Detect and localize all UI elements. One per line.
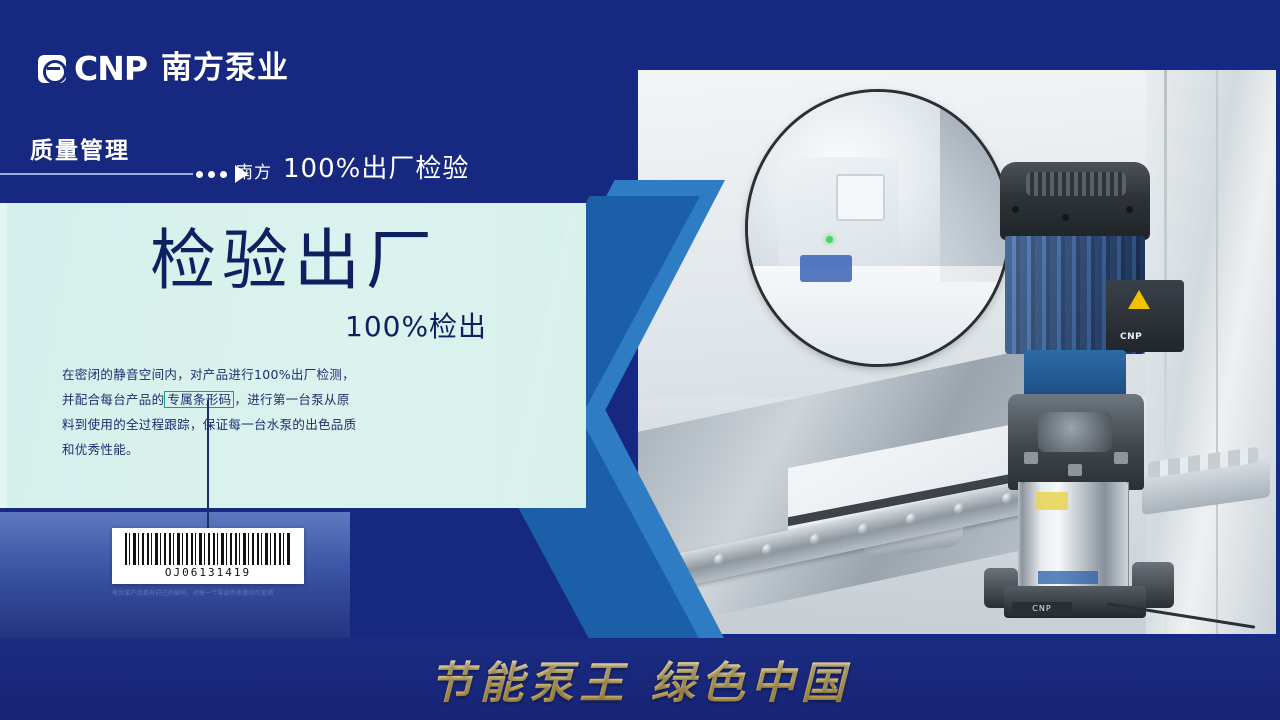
body-paragraph: 在密闭的静音空间内，对产品进行100%出厂检测，并配合每台产品的专属条形码，进行… — [62, 362, 362, 462]
logo-chinese-text: 南方泵业 — [161, 53, 289, 84]
footer-slogan-text: 节能泵王 绿色中国 — [429, 647, 850, 711]
base-nameplate: CNP — [1012, 602, 1072, 616]
photo-frame: CNP CNP — [634, 66, 1280, 638]
vertical-multistage-pump: CNP CNP — [956, 162, 1188, 614]
stainless-pump-chamber — [1022, 482, 1128, 594]
content-panel-edge — [0, 203, 7, 508]
cnp-emblem-icon — [38, 55, 66, 83]
pump-brand-label: CNP — [1120, 332, 1142, 342]
brand-logo[interactable]: CNP 南方泵业 — [38, 52, 289, 85]
marker-dot — [220, 171, 227, 178]
chamber-blue-label — [1038, 571, 1098, 584]
mirror-cart-reflection — [800, 255, 852, 282]
terminal-box: CNP — [1106, 280, 1184, 352]
barcode-number: OJ06131419 — [165, 566, 251, 579]
highlighted-term: 专属条形码 — [164, 391, 234, 408]
factory-photo: CNP CNP — [638, 70, 1276, 634]
pump-coupling-bracket — [1008, 394, 1144, 490]
motor-fan-cover — [1000, 162, 1150, 240]
page-subtitle: 100%检出 — [345, 305, 487, 345]
page-title: 检验出厂 — [150, 228, 438, 294]
header-headline: 100%出厂检验 — [283, 148, 469, 185]
callout-connector-line — [207, 400, 209, 528]
barcode-card: OJ06131419 — [112, 528, 304, 584]
section-title: 质量管理 — [30, 131, 130, 165]
marker-dot — [208, 171, 215, 178]
header-rule — [0, 173, 193, 175]
slide-root: CNP CNP — [0, 0, 1280, 720]
barcode-caption: 每台泵产品都有自己的编码，对每一个零部件质量均可追溯 — [112, 588, 312, 597]
warning-sticker — [1036, 492, 1068, 510]
barcode-icon — [125, 533, 291, 565]
logo-latin-text: CNP — [74, 52, 147, 85]
electrical-hazard-icon — [1128, 290, 1150, 309]
mirror-control-panel-reflection — [836, 174, 884, 222]
brand-short-label: 南方 — [236, 158, 272, 183]
marker-dot — [196, 171, 203, 178]
footer-slogan-bar: 节能泵王 绿色中国 — [0, 638, 1280, 720]
